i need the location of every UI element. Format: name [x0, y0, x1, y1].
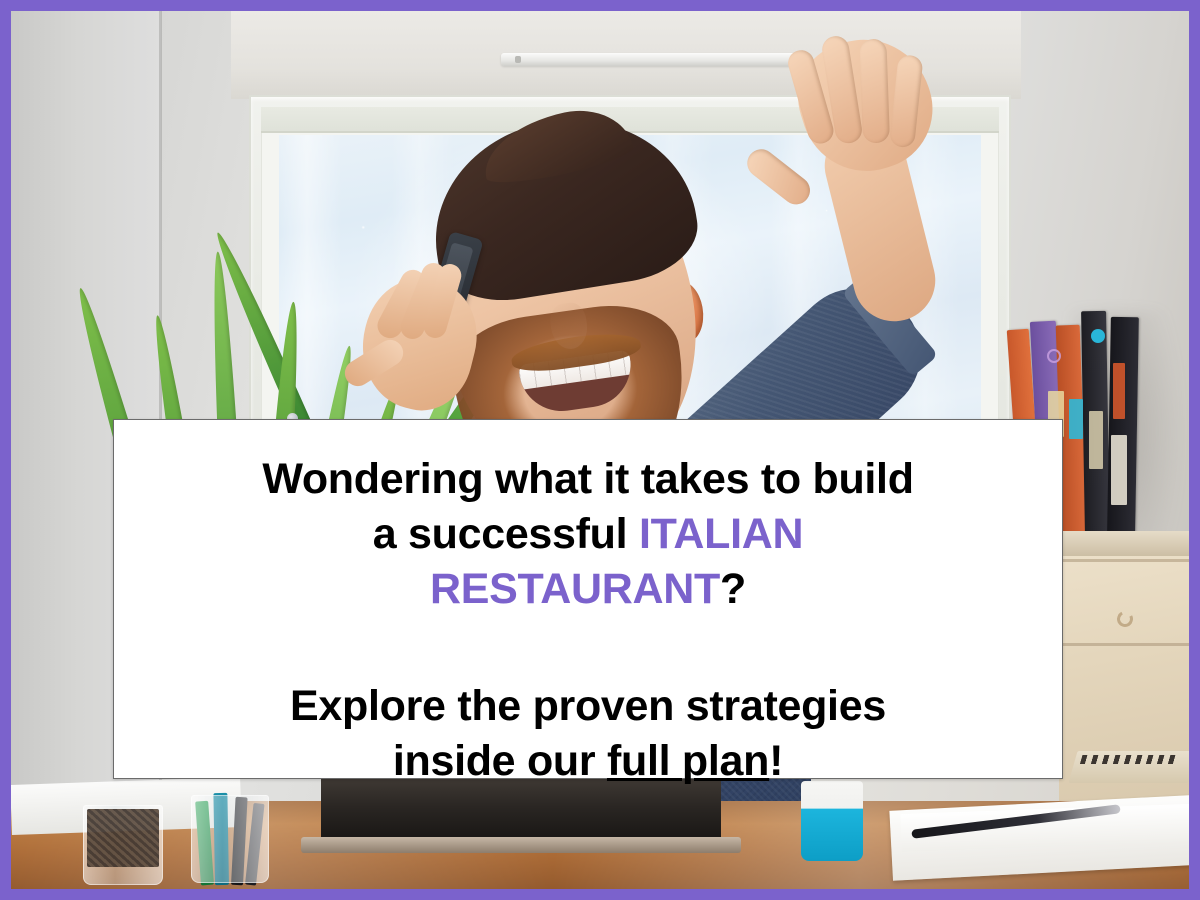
subline-line-2-prefix: inside our [393, 737, 607, 785]
headline-question-mark: ? [720, 565, 746, 613]
laptop-base [301, 837, 741, 853]
slide-canvas: Wondering what it takes to build a succe… [0, 0, 1200, 900]
paper-cup [801, 781, 863, 861]
headline-line-2-prefix: a successful [373, 510, 639, 558]
headline-block: Wondering what it takes to build a succe… [262, 452, 913, 617]
thumb [742, 144, 816, 210]
headline-line-1: Wondering what it takes to build [262, 455, 913, 503]
jar-contents [87, 809, 159, 867]
headline-accent-italian: ITALIAN [639, 510, 803, 558]
text-card: Wondering what it takes to build a succe… [113, 419, 1063, 779]
subline-line-1: Explore the proven strategies [290, 682, 886, 730]
subline-block: Explore the proven strategies inside our… [290, 679, 886, 789]
subline-exclamation: ! [769, 737, 783, 785]
pen-holder [191, 795, 269, 883]
headline-accent-restaurant: RESTAURANT [430, 565, 720, 613]
full-plan-link[interactable]: full plan [607, 737, 769, 785]
finger [859, 39, 890, 144]
